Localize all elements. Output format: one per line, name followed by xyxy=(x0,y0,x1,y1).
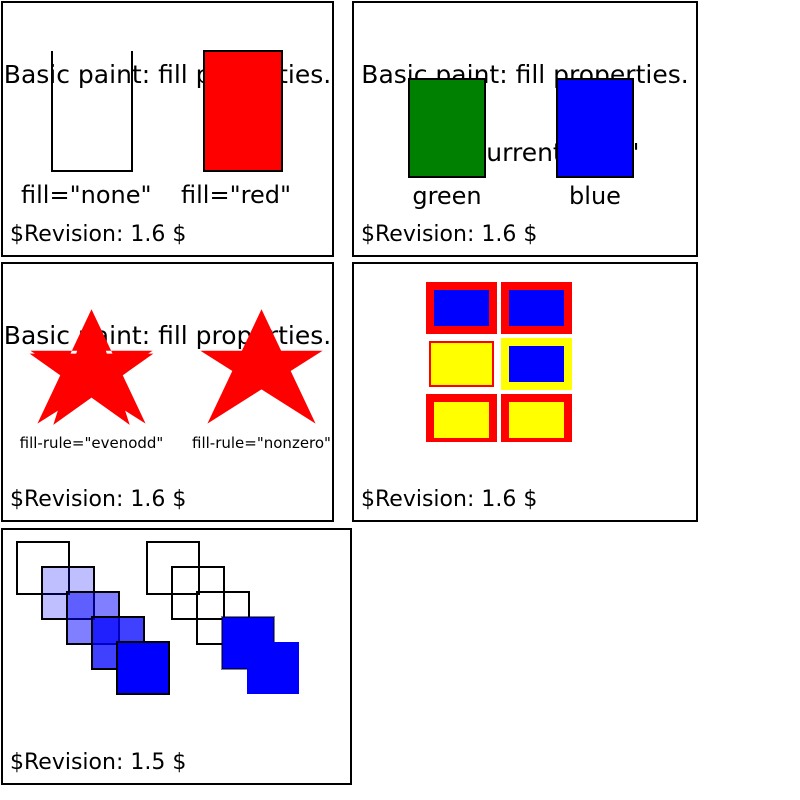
rect-grid-svg xyxy=(426,282,586,442)
shape-label: blue xyxy=(530,184,660,208)
rect-grid xyxy=(426,282,586,442)
shape-cell-fill-red: fill="red" xyxy=(171,45,301,207)
revision-label: $Revision: 1.6 $ xyxy=(10,222,186,247)
star-nonzero xyxy=(179,304,334,434)
shape-label: fill-rule="evenodd" xyxy=(9,436,174,451)
shape-label: fill="red" xyxy=(171,183,301,207)
panel-opacity: $Revision: 1.5 $ xyxy=(1,528,352,785)
grid-cell-r1c1 xyxy=(430,286,493,330)
revision-label: $Revision: 1.6 $ xyxy=(361,487,537,512)
shape-cell-fill-none: fill="none" xyxy=(21,45,151,207)
blue-swatch xyxy=(530,75,660,181)
shape-cell-blue: blue xyxy=(530,75,660,208)
panel-current-color: Basic paint: fill properties. fill="curr… xyxy=(352,1,698,257)
shape-cell-evenodd: fill-rule="evenodd" xyxy=(9,304,174,451)
shape-cell-green: green xyxy=(382,75,512,208)
panel-fill-basic: Basic paint: fill properties. fill="none… xyxy=(1,1,334,257)
grid-cell-r2c2 xyxy=(505,342,568,386)
shape-label: fill-rule="nonzero" xyxy=(179,436,334,451)
shape-cell-nonzero: fill-rule="nonzero" xyxy=(179,304,334,451)
opacity-cascades xyxy=(9,536,349,726)
shape-label: green xyxy=(382,184,512,208)
panel-stroke-variants: $Revision: 1.6 $ xyxy=(352,262,698,522)
revision-label: $Revision: 1.6 $ xyxy=(10,487,186,512)
grid-cell-r3c2 xyxy=(505,398,568,442)
shape-label: fill="none" xyxy=(21,183,151,207)
fill-none-swatch xyxy=(21,45,151,177)
star-evenodd xyxy=(9,304,174,434)
opacity-cascade-svg xyxy=(9,536,349,726)
green-swatch xyxy=(382,75,512,181)
revision-label: $Revision: 1.6 $ xyxy=(361,222,537,247)
revision-label: $Revision: 1.5 $ xyxy=(10,750,186,775)
grid-cell-r2c1 xyxy=(430,342,493,386)
panel-fill-rule: Basic paint: fill properties. fill-rule=… xyxy=(1,262,334,522)
grid-cell-r3c1 xyxy=(430,398,493,442)
fill-red-swatch xyxy=(171,45,301,177)
grid-cell-r1c2 xyxy=(505,286,568,330)
